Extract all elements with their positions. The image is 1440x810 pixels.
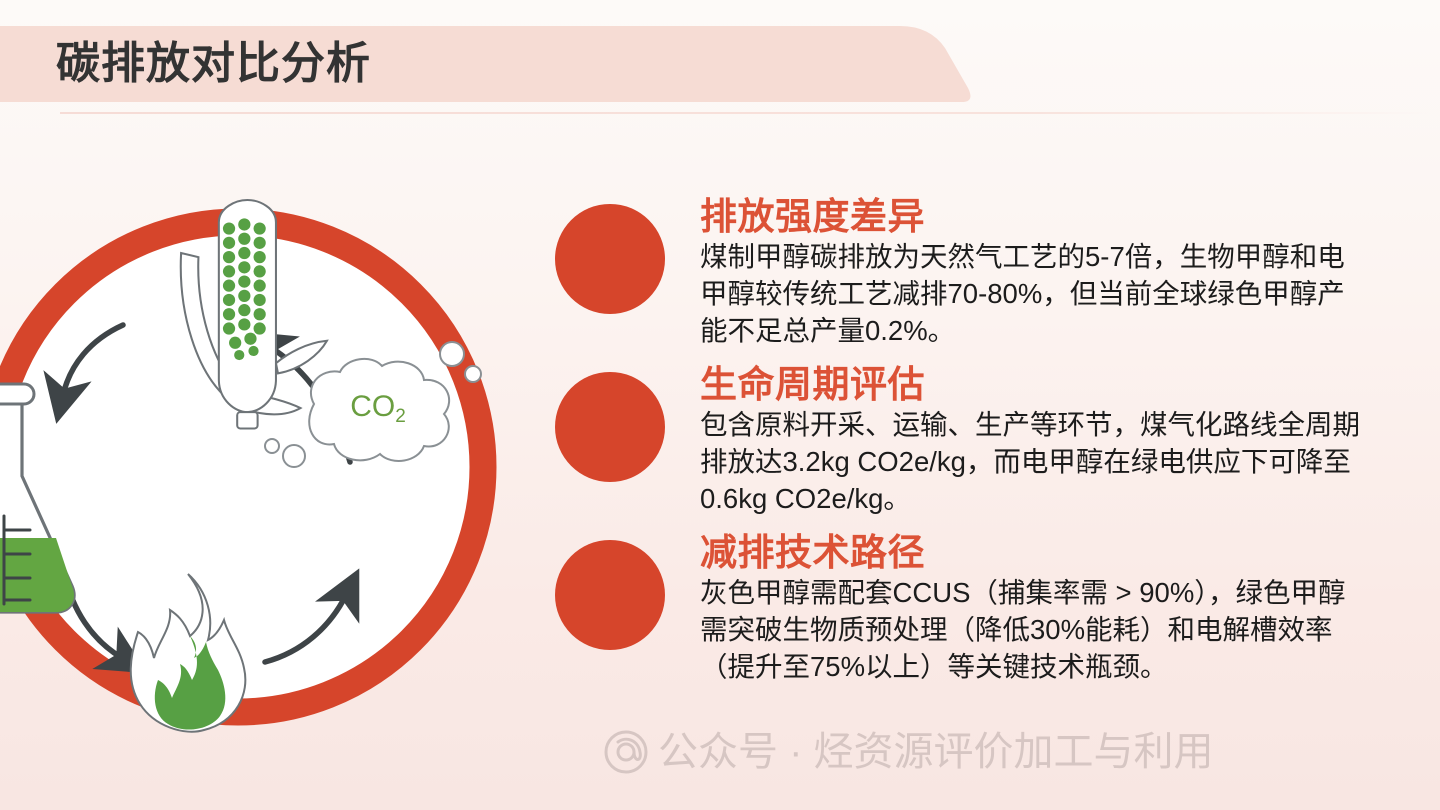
bullet-dot-1: [555, 204, 665, 314]
slide-root: 碳排放对比分析: [0, 0, 1440, 810]
bullet-item-3: 减排技术路径 灰色甲醇需配套CCUS（捕集率需 > 90%），绿色甲醇需突破生物…: [552, 532, 1432, 686]
carbon-cycle-illustration: CO2: [0, 140, 510, 800]
bullet-heading-2: 生命周期评估: [700, 364, 1432, 405]
bullet-list: 排放强度差异 煤制甲醇碳排放为天然气工艺的5-7倍，生物甲醇和电甲醇较传统工艺减…: [552, 196, 1432, 686]
page-title: 碳排放对比分析: [56, 42, 371, 86]
bullet-body-2: 包含原料开采、运输、生产等环节，煤气化路线全周期排放达3.2kg CO2e/kg…: [700, 407, 1360, 518]
bullet-body-3: 灰色甲醇需配套CCUS（捕集率需 > 90%），绿色甲醇需突破生物质预处理（降低…: [700, 575, 1360, 686]
watermark-logo-icon: [604, 730, 648, 774]
bullet-heading-3: 减排技术路径: [700, 532, 1432, 573]
watermark-text: 公众号 · 烃资源评价加工与利用: [658, 732, 1214, 772]
carbon-cycle-svg: CO2: [0, 140, 510, 800]
bullet-heading-1: 排放强度差异: [700, 196, 1432, 237]
bullet-item-2: 生命周期评估 包含原料开采、运输、生产等环节，煤气化路线全周期排放达3.2kg …: [552, 364, 1432, 518]
bullet-item-1: 排放强度差异 煤制甲醇碳排放为天然气工艺的5-7倍，生物甲醇和电甲醇较传统工艺减…: [552, 196, 1432, 350]
bullet-body-1: 煤制甲醇碳排放为天然气工艺的5-7倍，生物甲醇和电甲醇较传统工艺减排70-80%…: [700, 239, 1360, 350]
bullet-dot-3: [555, 540, 665, 650]
title-banner: 碳排放对比分析: [0, 26, 1000, 102]
banner-underline-divider: [60, 112, 1430, 114]
watermark: 公众号 · 烃资源评价加工与利用: [604, 730, 1214, 774]
bullet-dot-2: [555, 372, 665, 482]
